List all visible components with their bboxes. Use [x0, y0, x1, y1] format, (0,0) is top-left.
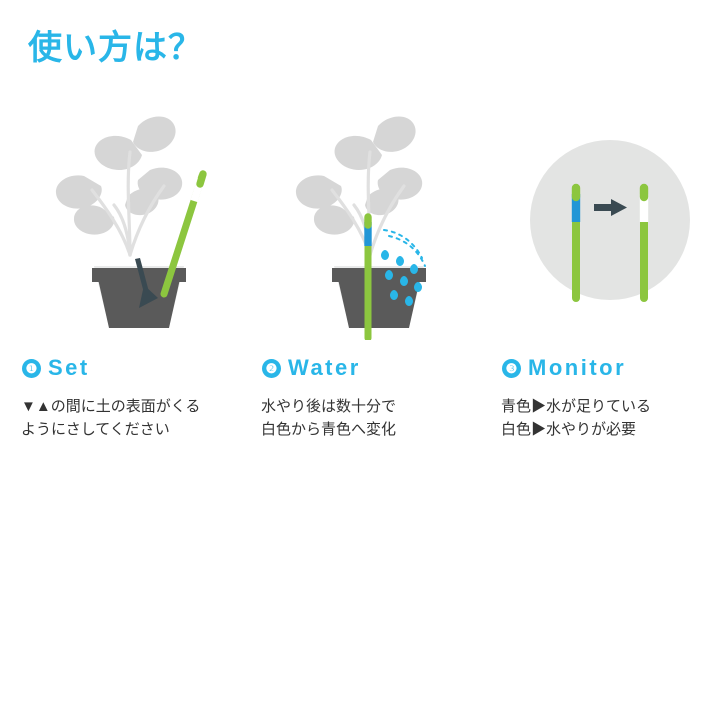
step-label: Set: [48, 355, 90, 381]
desc-line: 青色▶水が足りている: [501, 395, 713, 418]
step-panel-set: ❶ Set ▼▲の間に土の表面がくる ようにさしてください: [18, 80, 248, 450]
illustration-set: [18, 80, 248, 340]
monitor-circle-background: [530, 140, 690, 300]
illustration-monitor: [498, 80, 713, 340]
step-number-badge: ❸: [502, 359, 521, 378]
plant-silhouette-icon: [296, 117, 422, 235]
step-description-set: ▼▲の間に土の表面がくる ようにさしてください: [21, 395, 261, 442]
desc-line: ▼▲の間に土の表面がくる: [21, 395, 261, 418]
step-label: Water: [288, 355, 361, 381]
step-title-water: ❷ Water: [262, 355, 361, 381]
plant-silhouette-icon: [56, 117, 182, 235]
step-panel-water: ❷ Water 水やり後は数十分で 白色から青色へ変化: [258, 80, 488, 450]
desc-line: ようにさしてください: [21, 418, 261, 441]
step-title-set: ❶ Set: [22, 355, 90, 381]
water-drops-icon: [384, 230, 425, 266]
step-description-water: 水やり後は数十分で 白色から青色へ変化: [261, 395, 501, 442]
desc-line: 白色から青色へ変化: [261, 418, 501, 441]
step-number-badge: ❶: [22, 359, 41, 378]
illustration-water: [258, 80, 488, 340]
page-title: 使い方は？: [28, 20, 203, 69]
desc-line: 水やり後は数十分で: [261, 395, 501, 418]
step-description-monitor: 青色▶水が足りている 白色▶水やりが必要: [501, 395, 713, 442]
step-title-monitor: ❸ Monitor: [502, 355, 626, 381]
step-panel-monitor: ❸ Monitor 青色▶水が足りている 白色▶水やりが必要: [498, 80, 713, 450]
desc-line: 白色▶水やりが必要: [501, 418, 713, 441]
step-number-badge: ❷: [262, 359, 281, 378]
infographic-page: 使い方は？: [0, 0, 713, 713]
step-label: Monitor: [528, 355, 626, 381]
plant-pot-icon: [332, 266, 426, 328]
